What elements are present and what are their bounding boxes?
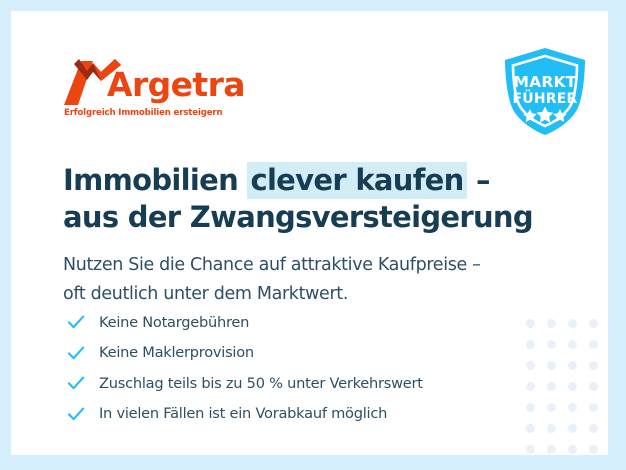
benefit-item: Keine Maklerprovision [65, 338, 525, 369]
promo-card: Argetra Erfolgreich Immobilien ersteiger… [11, 11, 608, 455]
check-icon [66, 343, 86, 363]
logo-row: Argetra [63, 55, 263, 103]
decorative-dot [568, 340, 577, 349]
check-icon [66, 373, 86, 393]
decorative-dot [568, 424, 577, 433]
promo-banner: Argetra Erfolgreich Immobilien ersteiger… [0, 0, 626, 470]
decorative-dot [526, 445, 535, 454]
decorative-dot [589, 340, 598, 349]
decorative-dot [589, 424, 598, 433]
benefit-item-label: In vielen Fällen ist ein Vorabkauf mögli… [99, 405, 387, 422]
market-leader-badge: MARKT FÜHRER [497, 43, 593, 139]
decorative-dot [526, 382, 535, 391]
benefit-item-label: Keine Notargebühren [99, 314, 249, 331]
decorative-dot [547, 424, 556, 433]
logo-wordmark: Argetra [107, 68, 245, 101]
benefit-item: Zuschlag teils bis zu 50 % unter Verkehr… [65, 368, 525, 399]
subheadline-line-2: oft deutlich unter dem Marktwert. [63, 280, 583, 309]
decorative-dot [589, 382, 598, 391]
decorative-dot [547, 445, 556, 454]
decorative-dot [568, 319, 577, 328]
decorative-dot [547, 361, 556, 370]
decorative-dot [547, 382, 556, 391]
decorative-dot [547, 340, 556, 349]
badge-line-1: MARKT [514, 73, 577, 91]
decorative-dot [589, 403, 598, 412]
benefit-item-label: Keine Maklerprovision [99, 344, 254, 361]
subheadline: Nutzen Sie die Chance auf attraktive Kau… [63, 251, 583, 309]
benefit-list: Keine NotargebührenKeine Maklerprovision… [65, 307, 525, 429]
headline-line-1: Immobilien clever kaufen – [63, 162, 563, 199]
decorative-dot [526, 319, 535, 328]
decorative-dot [526, 424, 535, 433]
decorative-dot [547, 403, 556, 412]
decorative-dot [568, 445, 577, 454]
badge-line-2: FÜHRER [513, 89, 578, 107]
headline-prefix: Immobilien [63, 163, 247, 197]
check-icon [66, 312, 86, 332]
decorative-dot [568, 361, 577, 370]
decorative-dot [526, 340, 535, 349]
subheadline-line-1: Nutzen Sie die Chance auf attraktive Kau… [63, 251, 583, 280]
headline-line-2: aus der Zwangsversteigerung [63, 199, 563, 236]
argetra-logo: Argetra Erfolgreich Immobilien ersteiger… [63, 55, 263, 125]
decorative-dot [526, 361, 535, 370]
check-icon [66, 404, 86, 424]
benefit-item: In vielen Fällen ist ein Vorabkauf mögli… [65, 399, 525, 430]
decorative-dot [568, 403, 577, 412]
decorative-dot [526, 403, 535, 412]
headline-highlight: clever kaufen [247, 162, 466, 199]
decorative-dot [589, 319, 598, 328]
benefit-item: Keine Notargebühren [65, 307, 525, 338]
decorative-dot [568, 382, 577, 391]
headline-suffix: – [467, 163, 490, 197]
dot-grid-decoration [520, 313, 608, 455]
logo-tagline: Erfolgreich Immobilien ersteigern [64, 108, 222, 118]
benefit-item-label: Zuschlag teils bis zu 50 % unter Verkehr… [99, 375, 423, 392]
headline: Immobilien clever kaufen – aus der Zwang… [63, 162, 563, 236]
decorative-dot [589, 361, 598, 370]
decorative-dot [589, 445, 598, 454]
decorative-dot [547, 319, 556, 328]
